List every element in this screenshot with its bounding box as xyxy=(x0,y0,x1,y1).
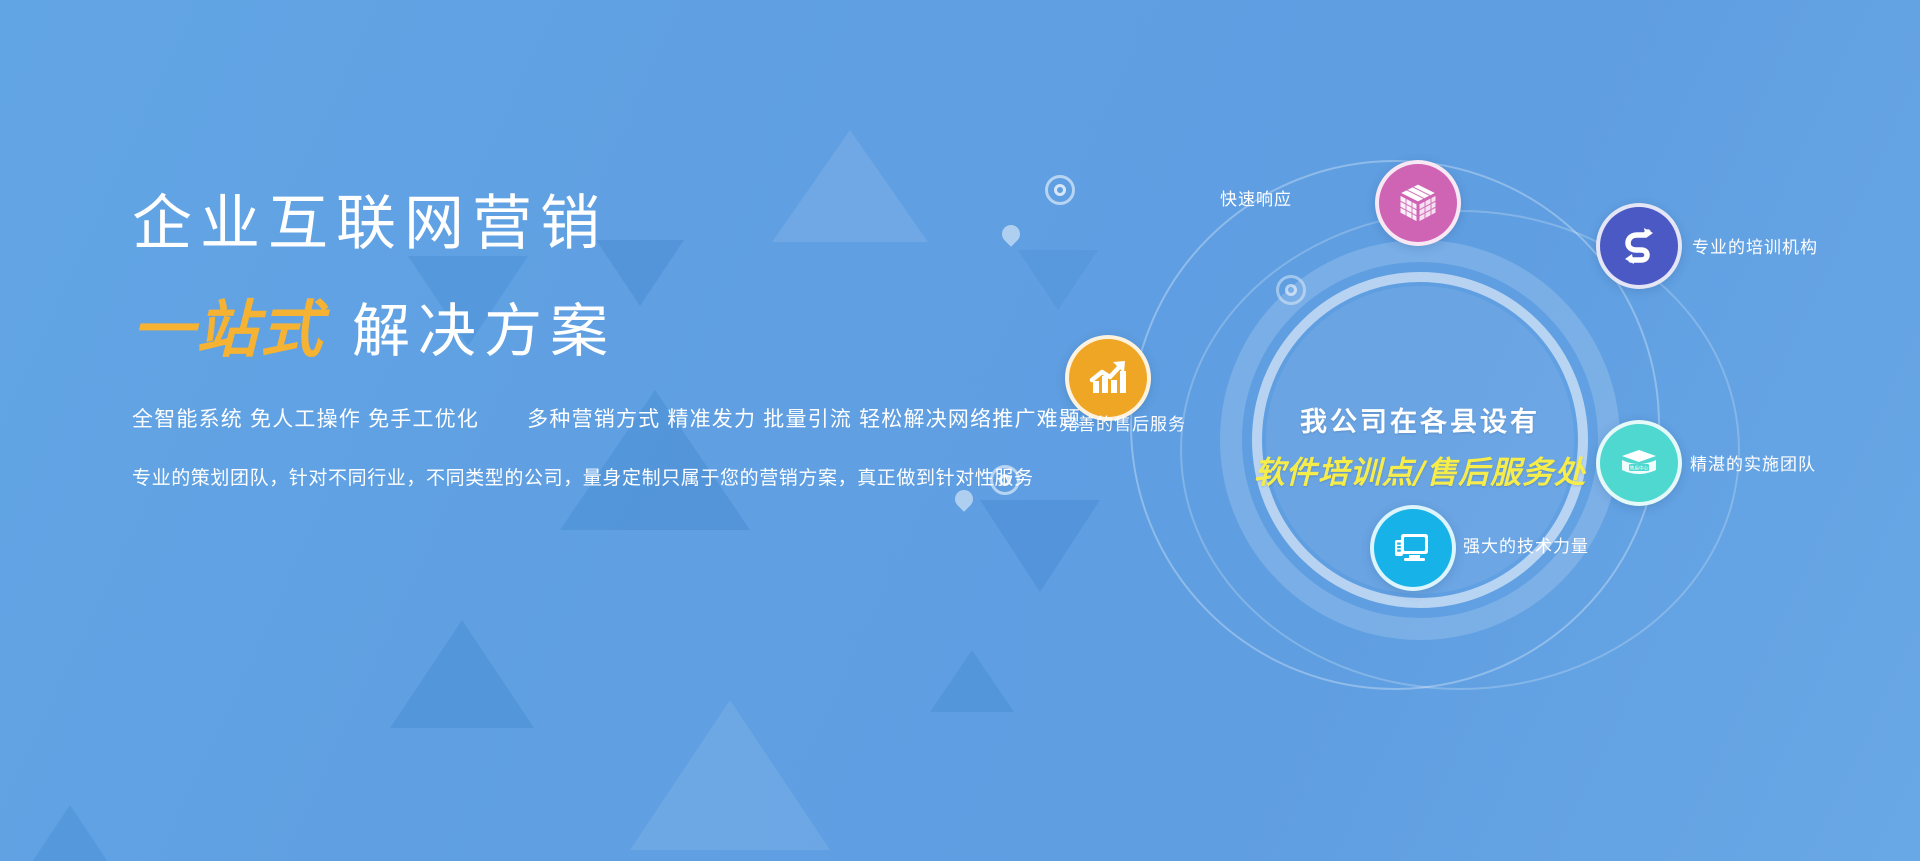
target-ring-icon xyxy=(1276,275,1306,305)
center-text-line-1: 我公司在各县设有 xyxy=(1230,400,1610,439)
node-label-strong-technology: 强大的技术力量 xyxy=(1463,532,1589,557)
hero-body-line-1-a: 全智能系统 免人工操作 免手工优化 xyxy=(132,408,479,431)
center-text: 我公司在各县设有 软件培训点/售后服务处 xyxy=(1230,400,1610,492)
node-professional-training[interactable] xyxy=(1596,203,1682,289)
hero-text-block: 企业互联网营销 一站式 解决方案 全智能系统 免人工操作 免手工优化 多种营销方… xyxy=(132,190,1052,490)
growth-chart-icon xyxy=(1085,355,1131,401)
circular-infographic: 我公司在各县设有 软件培训点/售后服务处 xyxy=(1080,120,1840,760)
node-label-fast-response: 快速响应 xyxy=(1220,185,1292,210)
s-arrow-icon xyxy=(1615,222,1663,270)
monitor-icon xyxy=(1390,525,1436,571)
book-icon: 售后中心 xyxy=(1616,440,1662,486)
hero-body-line-1-b: 多种营销方式 精准发力 批量引流 轻松解决网络推广难题 xyxy=(527,408,1081,431)
hero-subtitle-accent: 一站式 xyxy=(132,279,324,369)
decor-triangle xyxy=(930,650,1014,712)
node-skilled-implementation[interactable]: 售后中心 xyxy=(1596,420,1682,506)
hero-body-line-2: 专业的策划团队，针对不同行业，不同类型的公司，量身定制只属于您的营销方案，真正做… xyxy=(132,463,1052,490)
page-title: 企业互联网营销 xyxy=(132,190,1052,257)
node-label-professional-training: 专业的培训机构 xyxy=(1692,233,1818,258)
hero-subtitle: 一站式 解决方案 xyxy=(132,279,1052,369)
cube-icon xyxy=(1395,180,1441,226)
decor-triangle xyxy=(630,700,830,850)
hero-body-line-1: 全智能系统 免人工操作 免手工优化 多种营销方式 精准发力 批量引流 轻松解决网… xyxy=(132,403,1052,433)
center-text-line-2: 软件培训点/售后服务处 xyxy=(1230,447,1610,492)
hero-subtitle-rest: 解决方案 xyxy=(352,284,616,368)
node-label-skilled-implementation: 精湛的实施团队 xyxy=(1690,450,1816,475)
marketing-banner: 企业互联网营销 一站式 解决方案 全智能系统 免人工操作 免手工优化 多种营销方… xyxy=(0,0,1920,861)
decor-triangle xyxy=(390,620,534,728)
node-fast-response[interactable] xyxy=(1375,160,1461,246)
svg-text:售后中心: 售后中心 xyxy=(1630,465,1649,472)
node-strong-technology[interactable] xyxy=(1370,505,1456,591)
decor-triangle xyxy=(0,805,140,861)
